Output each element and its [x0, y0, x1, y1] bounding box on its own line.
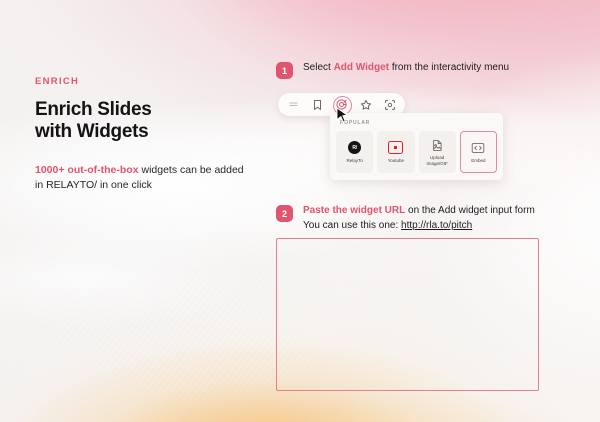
eyebrow-label: ENRICH: [35, 76, 250, 87]
step-2-text-highlight: Paste the widget URL: [303, 205, 405, 216]
step-2: 2 Paste the widget URL on the Add widget…: [276, 204, 535, 233]
step-1-text-after: from the interactivity menu: [389, 62, 509, 73]
menu-lines-icon[interactable]: [286, 97, 301, 112]
page-title-line-2: with Widgets: [35, 121, 250, 143]
step-1-text-highlight: Add Widget: [334, 62, 389, 73]
widget-placeholder-frame[interactable]: [276, 238, 539, 391]
subcopy: 1000+ out-of-the-box widgets can be adde…: [35, 163, 250, 193]
widget-url-link[interactable]: http://rla.to/pitch: [401, 220, 472, 231]
slide-canvas: ENRICH Enrich Slides with Widgets 1000+ …: [0, 0, 600, 422]
page-title: Enrich Slides with Widgets: [35, 99, 250, 143]
step-1-text: Select Add Widget from the interactivity…: [303, 61, 509, 76]
youtube-icon: [388, 141, 403, 155]
step-1-badge: 1: [276, 62, 293, 79]
left-content-column: ENRICH Enrich Slides with Widgets 1000+ …: [35, 76, 250, 204]
widget-card-upload-image[interactable]: Upload Image/GIF: [419, 131, 456, 173]
step-2-text-after: on the Add widget input form: [405, 205, 535, 216]
step-2-text: Paste the widget URL on the Add widget i…: [303, 204, 535, 233]
subcopy-highlight: 1000+ out-of-the-box: [35, 164, 139, 176]
step-1-text-before: Select: [303, 62, 334, 73]
bookmark-icon[interactable]: [310, 97, 325, 112]
widget-card-youtube[interactable]: Youtube: [377, 131, 414, 173]
panel-section-label: POPULAR: [340, 120, 497, 126]
frame-crop-icon[interactable]: [382, 97, 397, 112]
widget-card-list: R/ RelayTo Youtube: [336, 131, 497, 173]
sparkle-star-icon[interactable]: [358, 97, 373, 112]
step-2-line2-before: You can use this one:: [303, 220, 401, 231]
widget-card-label: Youtube: [386, 158, 406, 164]
widget-card-embed[interactable]: Embed: [460, 131, 497, 173]
add-widget-panel[interactable]: POPULAR R/ RelayTo Youtube: [330, 113, 503, 180]
widget-card-label: Upload Image/GIF: [420, 155, 455, 166]
embed-code-icon: [471, 141, 485, 155]
step-1: 1 Select Add Widget from the interactivi…: [276, 61, 509, 79]
page-title-line-1: Enrich Slides: [35, 99, 250, 121]
upload-image-icon: [431, 138, 444, 152]
relayto-mark: R/: [348, 141, 361, 154]
mouse-cursor-icon: [336, 107, 349, 124]
step-2-badge: 2: [276, 205, 293, 222]
widget-card-label: Embed: [469, 158, 487, 164]
widget-card-label: RelayTo: [344, 158, 364, 164]
relayto-logo-icon: R/: [348, 141, 361, 155]
widget-card-relayto[interactable]: R/ RelayTo: [336, 131, 373, 173]
